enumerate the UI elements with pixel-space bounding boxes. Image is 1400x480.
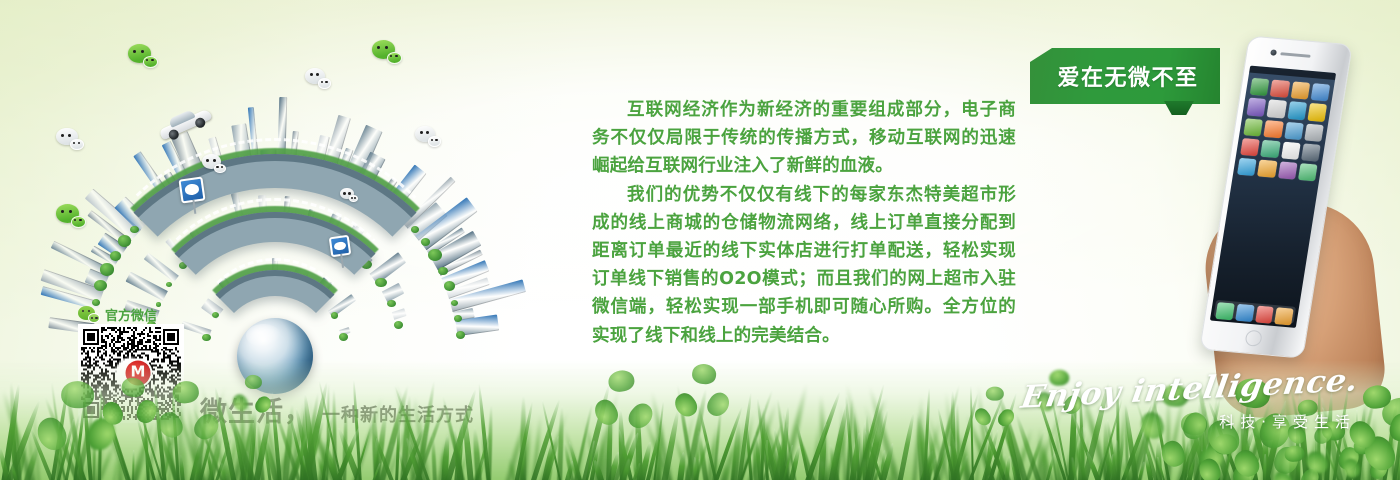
phone-app-grid (1237, 78, 1330, 182)
bubble-eye-dot (61, 134, 64, 137)
bubble-eye-dot (420, 131, 423, 134)
grass-blade (1263, 454, 1267, 480)
wechat-bubble-green-icon (372, 40, 402, 64)
hand-holding-phone (1196, 18, 1396, 418)
banner-stage: 互联网经济作为新经济的重要组成部分，电子商务不仅仅局限于传统的传播方式，移动互联… (0, 0, 1400, 480)
phone-app-icon (1287, 101, 1307, 120)
phone-app-icon (1267, 100, 1287, 119)
wechat-bubble-white-icon (340, 188, 358, 202)
wechat-icon (78, 306, 100, 323)
phone-dock-icon (1235, 304, 1254, 322)
phone-app-icon (1264, 120, 1284, 139)
phone-app-icon (1298, 163, 1318, 182)
phone-app-icon (1257, 160, 1277, 179)
phone-app-icon (1307, 103, 1327, 122)
body-copy: 互联网经济作为新经济的重要组成部分，电子商务不仅仅局限于传统的传播方式，移动互联… (592, 96, 1016, 350)
bubble-eye-dot (213, 159, 216, 162)
phone-dock-icon (1274, 307, 1293, 325)
bubble-eye-dot (343, 192, 346, 195)
phone-app-icon (1290, 81, 1310, 100)
enjoy-chinese-text: 科技·享受生活 (1023, 411, 1356, 432)
phone-app-icon (1310, 83, 1330, 102)
clover-leaf (61, 380, 95, 408)
phone-app-icon (1237, 158, 1257, 177)
wechat-bubble-white-icon (415, 126, 441, 147)
phone-app-icon (1246, 98, 1266, 117)
wechat-bubble-green-icon (56, 204, 86, 228)
wechat-bubble-green-icon (128, 44, 158, 68)
phone-app-icon (1281, 141, 1301, 160)
phone-app-icon (1243, 118, 1263, 137)
phone-app-icon (1250, 78, 1270, 97)
ribbon-label: 爱在无微不至 (1030, 48, 1220, 104)
phone-dock-icon (1255, 306, 1274, 324)
road-sign-wechat-icon (178, 176, 205, 203)
phone-app-icon (1240, 138, 1260, 157)
copy-paragraph-2: 我们的优势不仅仅有线下的每家东杰特美超市形成的线上商城的仓储物流网络，线上订单直… (592, 181, 1016, 350)
phone-app-dock (1214, 300, 1297, 324)
phone-app-icon (1304, 123, 1324, 142)
wechat-bubble-white-icon (202, 154, 226, 173)
qr-header: 官方微信 (78, 305, 157, 324)
bubble-eye-dot (310, 73, 313, 76)
phone-app-icon (1301, 143, 1321, 162)
phone-app-icon (1270, 80, 1290, 99)
bubble-eye-dot (348, 192, 351, 195)
phone-app-icon (1277, 161, 1297, 180)
enjoy-intelligence-slogan: Enjoy intelligence. 科技·享受生活 (1023, 371, 1356, 432)
phone-dock-icon (1215, 302, 1234, 320)
green-ribbon-banner: 爱在无微不至 (1030, 48, 1220, 104)
phone-app-icon (1284, 121, 1304, 140)
copy-paragraph-1: 互联网经济作为新经济的重要组成部分，电子商务不仅仅局限于传统的传播方式，移动互联… (592, 96, 1016, 181)
qr-label: 官方微信 (105, 305, 157, 324)
road-sign-wechat-icon (329, 235, 352, 258)
enjoy-script-text: Enjoy intelligence. (1018, 362, 1360, 415)
clover-leaf (244, 375, 262, 390)
phone-app-icon (1260, 140, 1280, 159)
wechat-bubble-white-icon (56, 128, 84, 150)
wechat-bubble-white-icon (305, 68, 331, 89)
clover-leaf (986, 386, 1004, 401)
